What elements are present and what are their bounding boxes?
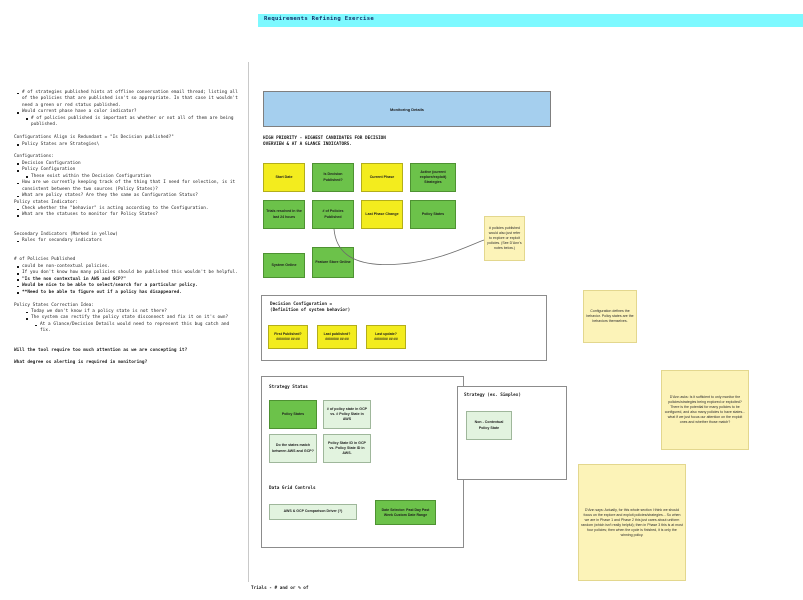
card-policy-state-id-compare[interactable]: Policy State ID in GCP vs. Policy State … [323, 434, 371, 463]
card-last-published[interactable]: Last published? ##/##/## ##:## [317, 325, 357, 349]
strategy-status-title: Strategy Status [269, 385, 308, 391]
decision-configuration-title: Decision Configuration = (Definition of … [270, 302, 350, 314]
high-priority-heading: HIGH PRIORITY - HIGHEST CANDIDATES FOR D… [263, 136, 386, 149]
monitoring-details-label: Monitoring Details [264, 107, 550, 112]
card-last-update-value: ##/##/## ##:## [374, 337, 398, 342]
card-feature-store-online[interactable]: Feature Store Online [312, 247, 354, 278]
card-non-contextual-policy-state[interactable]: Non - Contextual Policy State [466, 411, 512, 440]
card-is-decision-published[interactable]: Is Decision Published? [312, 163, 354, 192]
card-num-policies-published[interactable]: # of Policies Published [312, 200, 354, 229]
card-aws-gcp-comparison-driver[interactable]: AWS & GCP Comparison Driver (?) [269, 504, 357, 520]
card-first-published-value: ##/##/## ##:## [276, 337, 300, 342]
card-trials-resolved-24h[interactable]: Trials resolved in the last 24 hours [263, 200, 305, 229]
card-start-date[interactable]: Start Date [263, 163, 305, 192]
strategy-simplex-title: Strategy (ex. Simplex) [464, 393, 521, 399]
bottom-trials-text: Trials - # and or % of [251, 586, 309, 591]
data-grid-controls-title: Data Grid Controls [269, 486, 316, 492]
card-active-strategies[interactable]: Active (current explore/exploit) Strateg… [410, 163, 456, 192]
diagram-canvas: Monitoring Details HIGH PRIORITY - HIGHE… [0, 0, 803, 600]
note-policies-published[interactable]: # policies published would also just ref… [484, 216, 525, 261]
card-policy-state-count-compare[interactable]: # of policy state in GCP vs. # Policy St… [323, 400, 371, 429]
note-dann-says[interactable]: D'Ann says: Actually, for this whole sec… [578, 464, 686, 581]
note-configuration-defines[interactable]: Configuration defines the behavior. Poli… [583, 290, 637, 343]
card-last-phase-change[interactable]: Last Phase Change [361, 200, 403, 229]
card-strategy-policy-states[interactable]: Policy States [269, 400, 317, 429]
card-policy-states[interactable]: Policy States [410, 200, 456, 229]
note-dann-asks[interactable]: D'Ann asks: Is it sufficient to only mon… [661, 370, 749, 450]
card-first-published[interactable]: First Published? ##/##/## ##:## [268, 325, 308, 349]
card-current-phase[interactable]: Current Phase [361, 163, 403, 192]
card-system-online[interactable]: System Online [263, 253, 305, 278]
card-states-match[interactable]: Do the states match between AWS and GCP? [269, 434, 317, 463]
monitoring-details-box[interactable]: Monitoring Details [263, 91, 551, 127]
card-last-update[interactable]: Last update? ##/##/## ##:## [366, 325, 406, 349]
card-last-published-value: ##/##/## ##:## [325, 337, 349, 342]
card-date-selector[interactable]: Date Selector: Past Day Past Week Custom… [375, 500, 436, 525]
